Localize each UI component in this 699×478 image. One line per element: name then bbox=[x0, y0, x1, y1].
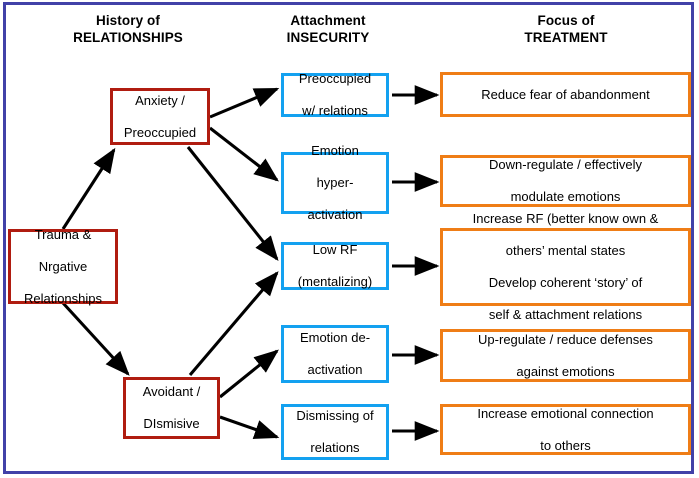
diagram-canvas: History of RELATIONSHIPS Attachment INSE… bbox=[0, 0, 699, 478]
node-preoccupied-with-relations[interactable]: Preoccupied w/ relations bbox=[281, 73, 389, 117]
arrow-avoidant-to-dismissing-relations bbox=[220, 417, 277, 437]
arrow-avoidant-to-emotion-de bbox=[220, 351, 277, 397]
node-increase-rf[interactable]: Increase RF (better know own & others’ m… bbox=[440, 228, 691, 306]
node-up-regulate-line1: Up-regulate / reduce defenses bbox=[447, 332, 684, 348]
node-trauma-line2: Nrgative bbox=[15, 259, 111, 275]
node-preoccupied-relations-line1: Preoccupied bbox=[288, 71, 382, 87]
column-header-treatment-line1: Focus of bbox=[440, 12, 692, 29]
node-preoccupied-relations-line2: w/ relations bbox=[288, 103, 382, 119]
node-trauma-line3: Relationships bbox=[15, 291, 111, 307]
arrow-trauma-to-avoidant bbox=[63, 303, 128, 374]
node-increase-rf-line4: self & attachment relations bbox=[447, 307, 684, 323]
column-header-insecurity-line1: Attachment bbox=[238, 12, 418, 29]
node-dismissing-of-relations[interactable]: Dismissing of relations bbox=[281, 404, 389, 460]
arrow-avoidant-to-low-rf bbox=[190, 273, 277, 375]
node-emotion-deactivation[interactable]: Emotion de- activation bbox=[281, 325, 389, 383]
node-increase-rf-line1: Increase RF (better know own & bbox=[447, 211, 684, 227]
node-low-rf-mentalizing[interactable]: Low RF (mentalizing) bbox=[281, 242, 389, 290]
arrow-anxiety-to-emotion-hyper bbox=[210, 128, 277, 180]
node-emotion-hyper-line3: activation bbox=[288, 207, 382, 223]
node-up-regulate-line2: against emotions bbox=[447, 364, 684, 380]
node-low-rf-line1: Low RF bbox=[288, 242, 382, 258]
node-anxiety-line1: Anxiety / bbox=[117, 93, 203, 109]
arrow-trauma-to-anxiety bbox=[63, 150, 114, 229]
node-trauma[interactable]: Trauma & Nrgative Relationships bbox=[8, 229, 118, 304]
node-dismissing-relations-line2: relations bbox=[288, 440, 382, 456]
arrow-anxiety-to-low-rf bbox=[188, 147, 277, 259]
column-header-history-line1: History of bbox=[18, 12, 238, 29]
node-low-rf-line2: (mentalizing) bbox=[288, 274, 382, 290]
column-header-history: History of RELATIONSHIPS bbox=[18, 12, 238, 46]
column-header-history-line2: RELATIONSHIPS bbox=[18, 29, 238, 46]
node-up-regulate-defenses[interactable]: Up-regulate / reduce defenses against em… bbox=[440, 329, 691, 382]
node-emotion-de-line1: Emotion de- bbox=[288, 330, 382, 346]
node-trauma-line1: Trauma & bbox=[15, 227, 111, 243]
node-down-regulate-line1: Down-regulate / effectively bbox=[447, 157, 684, 173]
node-increase-connect-line1: Increase emotional connection bbox=[447, 406, 684, 422]
node-avoidant-dismissive[interactable]: Avoidant / DIsmisive bbox=[123, 377, 220, 439]
node-down-regulate-line2: modulate emotions bbox=[447, 189, 684, 205]
node-avoidant-line2: DIsmisive bbox=[130, 416, 213, 432]
node-avoidant-line1: Avoidant / bbox=[130, 384, 213, 400]
node-reduce-fear-line1: Reduce fear of abandonment bbox=[447, 87, 684, 103]
node-dismissing-relations-line1: Dismissing of bbox=[288, 408, 382, 424]
node-emotion-hyper-line2: hyper- bbox=[288, 175, 382, 191]
node-reduce-fear-of-abandonment[interactable]: Reduce fear of abandonment bbox=[440, 72, 691, 117]
node-increase-rf-line3: Develop coherent ‘story’ of bbox=[447, 275, 684, 291]
node-anxiety-line2: Preoccupied bbox=[117, 125, 203, 141]
node-emotion-hyperactivation[interactable]: Emotion hyper- activation bbox=[281, 152, 389, 214]
column-header-insecurity-line2: INSECURITY bbox=[238, 29, 418, 46]
arrow-anxiety-to-preoccupied-relations bbox=[210, 89, 277, 117]
node-increase-connect-line2: to others bbox=[447, 438, 684, 454]
node-increase-rf-line2: others’ mental states bbox=[447, 243, 684, 259]
column-header-treatment-line2: TREATMENT bbox=[440, 29, 692, 46]
node-emotion-de-line2: activation bbox=[288, 362, 382, 378]
column-header-treatment: Focus of TREATMENT bbox=[440, 12, 692, 46]
column-header-insecurity: Attachment INSECURITY bbox=[238, 12, 418, 46]
node-down-regulate-emotions[interactable]: Down-regulate / effectively modulate emo… bbox=[440, 155, 691, 207]
node-increase-emotional-connection[interactable]: Increase emotional connection to others bbox=[440, 404, 691, 455]
node-emotion-hyper-line1: Emotion bbox=[288, 143, 382, 159]
node-anxiety-preoccupied[interactable]: Anxiety / Preoccupied bbox=[110, 88, 210, 145]
